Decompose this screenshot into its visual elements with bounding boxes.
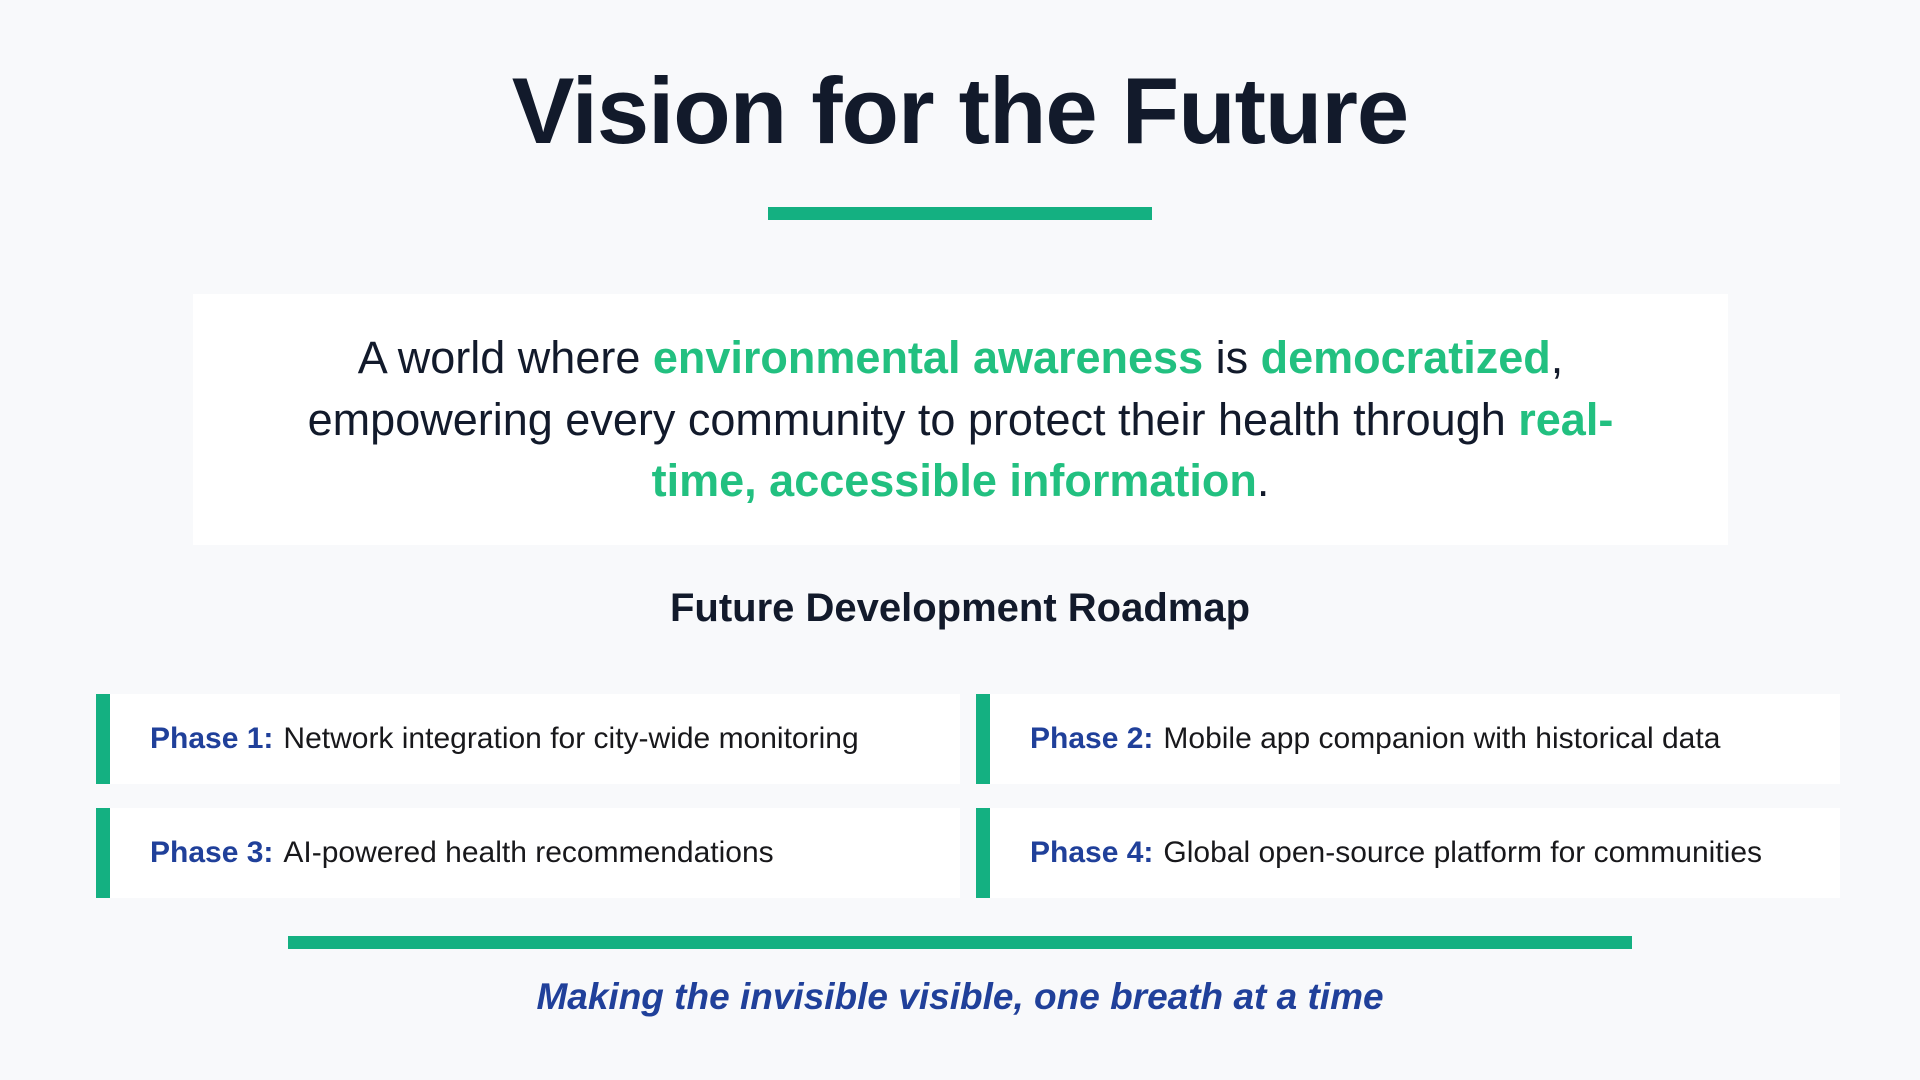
phase-card-3[interactable]: Phase 3: AI-powered health recommendatio…	[96, 808, 960, 898]
phase-label-3: Phase 3:	[150, 836, 273, 870]
page-title: Vision for the Future	[0, 58, 1920, 163]
roadmap-heading: Future Development Roadmap	[0, 586, 1920, 631]
statement-highlight-1: environmental awareness	[653, 332, 1203, 383]
phase-description-1: Network integration for city-wide monito…	[283, 722, 858, 756]
vision-statement-card: A world where environmental awareness is…	[193, 294, 1728, 545]
statement-segment-2: is	[1203, 332, 1261, 383]
phase-label-1: Phase 1:	[150, 722, 273, 756]
vision-statement-text: A world where environmental awareness is…	[261, 327, 1661, 512]
phase-description-2: Mobile app companion with historical dat…	[1163, 722, 1720, 756]
statement-highlight-2: democratized	[1261, 332, 1551, 383]
roadmap-phase-grid: Phase 1: Network integration for city-wi…	[96, 694, 1840, 898]
phase-card-4[interactable]: Phase 4: Global open-source platform for…	[976, 808, 1840, 898]
phase-card-1[interactable]: Phase 1: Network integration for city-wi…	[96, 694, 960, 784]
slide-canvas: Vision for the Future A world where envi…	[0, 0, 1920, 1080]
statement-segment-1: A world where	[358, 332, 653, 383]
statement-segment-4: .	[1257, 455, 1270, 506]
phase-description-3: AI-powered health recommendations	[283, 836, 773, 870]
footer-accent-rule	[288, 936, 1632, 949]
phase-label-2: Phase 2:	[1030, 722, 1153, 756]
phase-description-4: Global open-source platform for communit…	[1163, 836, 1762, 870]
title-accent-rule	[768, 207, 1152, 220]
footer-tagline: Making the invisible visible, one breath…	[0, 976, 1920, 1018]
phase-label-4: Phase 4:	[1030, 836, 1153, 870]
phase-card-2[interactable]: Phase 2: Mobile app companion with histo…	[976, 694, 1840, 784]
